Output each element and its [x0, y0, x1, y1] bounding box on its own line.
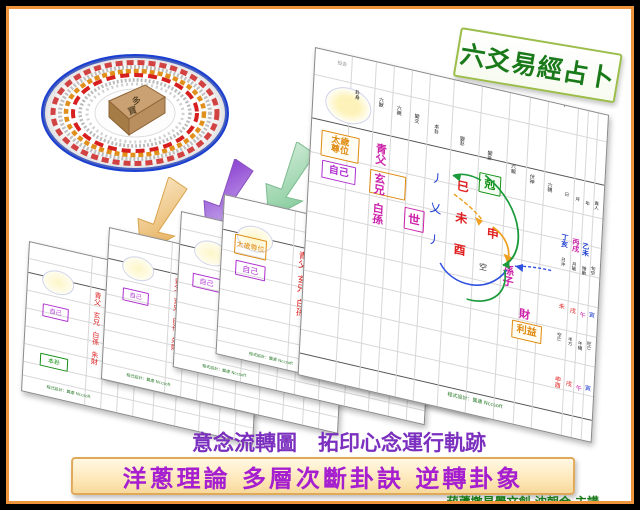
presenter-signature: 葫蘆墩易學文創 沈朝合 主講 — [9, 493, 617, 504]
right-header-3: 貴人 — [593, 200, 598, 210]
caption-line-1: 意念流轉圖 拓印心念運行軌跡 — [159, 427, 519, 457]
li-yi-label: 利益 — [516, 325, 537, 339]
right-header-1: 月 — [574, 196, 579, 201]
col-header-6: 變卦 — [486, 150, 492, 161]
luopan-compass: 多 寶 — [39, 53, 231, 173]
col-header-0: 卦身 — [354, 89, 360, 100]
right-header2-0: 日沖 — [560, 257, 565, 267]
right-glyph-r2c1: 申酉 — [553, 375, 560, 388]
cell-qingfu: 青父 — [375, 142, 387, 166]
right-header-2: 年 — [584, 200, 589, 205]
col-header-1: 六獸 — [378, 97, 384, 108]
tai-sui-zun-wei-label: 太歲尊位 — [330, 135, 351, 158]
right-glyph-r1c3: 午 — [578, 311, 584, 318]
right-header2-1: 月破 — [570, 261, 575, 271]
right-header2-2: 暗動 — [580, 265, 585, 275]
right-header3-0: 空亡 — [556, 332, 561, 342]
stem-0: 丁亥 — [561, 233, 569, 248]
stem-1: 丙戌 — [571, 237, 579, 252]
col-header-3: 變爻 — [413, 113, 419, 124]
slide-inner-frame: 六爻易經占卜 六爻易經占卜 — [6, 6, 634, 504]
col-header-2: 六親 — [395, 105, 401, 116]
right-header-0: 日 — [563, 191, 568, 196]
col-header-7: 六親 — [510, 163, 516, 174]
right-header3-3: 旺亡 — [585, 341, 590, 351]
col-header-4: 本卦 — [433, 123, 439, 134]
stem-2: 乙未 — [581, 242, 589, 257]
right-glyph-r2c2: 戌 — [564, 380, 570, 387]
caption-line-2: 洋蔥理論 多層次斷卦訣 逆轉卦象 — [122, 459, 523, 494]
right-header3-2: 午穚 — [576, 340, 581, 350]
caption-banner: 洋蔥理論 多層次斷卦訣 逆轉卦象 — [71, 457, 575, 495]
cell-baisun: 白孫 — [371, 201, 383, 225]
self-label: 自己 — [328, 165, 349, 179]
right-glyph-r1c2: 戌 — [568, 307, 574, 314]
slide-root: 六爻易經占卜 六爻易經占卜 — [0, 0, 640, 510]
right-header3-1: 半方 — [566, 336, 571, 346]
ancient-book-icon: 多 寶 — [99, 79, 169, 145]
shi-label: 世 — [408, 213, 421, 228]
cell-xuanxiong: 玄兄 — [373, 172, 385, 196]
divination-sheet-main[interactable]: 投卦 卦身 六獸 六親 變爻 本卦 變卦 變卦 六親 伏神 六親 日 月 年 貴… — [298, 47, 609, 443]
col-header-5: 變卦 — [459, 135, 465, 146]
right-glyph-r1c1: 未 — [557, 302, 563, 309]
right-glyph-r2c4: 寅 — [583, 384, 589, 391]
right-header2-3: 旬空 — [589, 265, 594, 275]
right-glyph-r1c4: 寅 — [587, 311, 593, 318]
right-glyph-r2c3: 午 — [574, 384, 580, 391]
